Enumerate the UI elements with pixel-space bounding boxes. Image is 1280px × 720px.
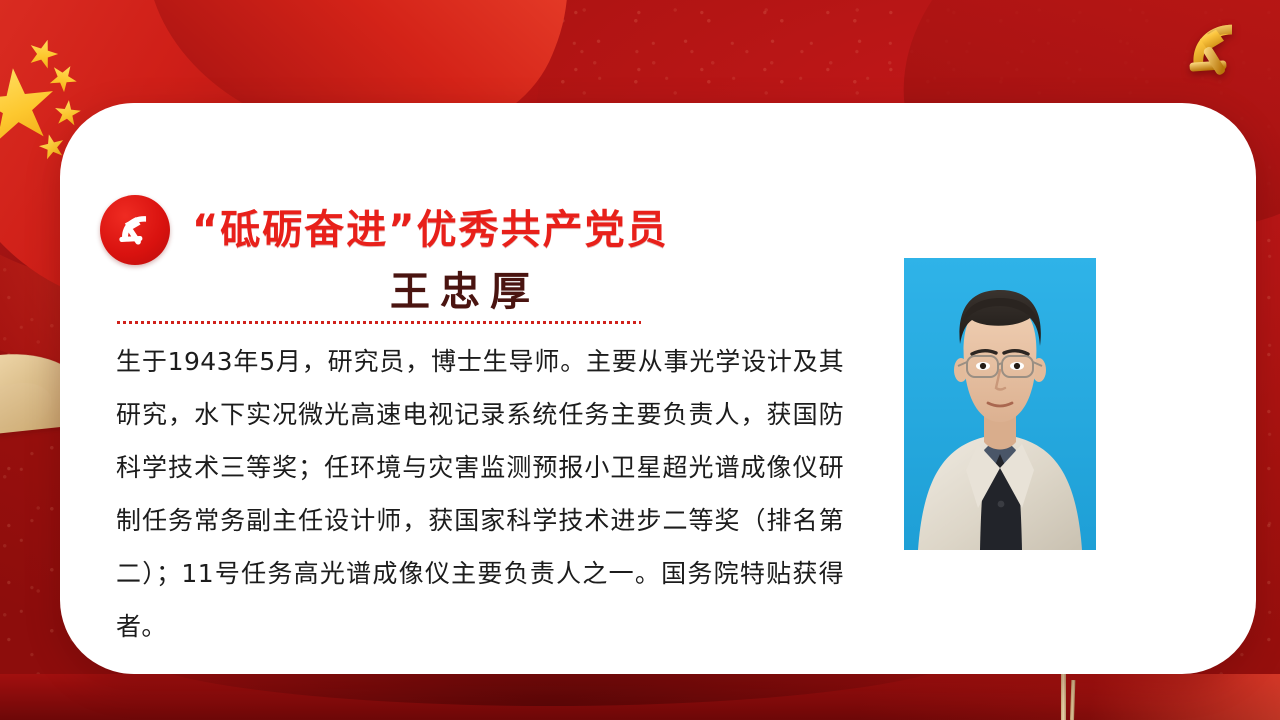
hammer-sickle-icon <box>112 207 158 253</box>
party-badge <box>100 195 170 265</box>
hammer-sickle-emblem-icon <box>1170 12 1262 92</box>
slide-root: “砥砺奋进”优秀共产党员 王忠厚 生于1943年5月，研究员，博士生导师。主要从… <box>0 0 1280 720</box>
five-pointed-star-icon <box>24 35 62 73</box>
five-pointed-star-icon <box>0 64 60 150</box>
portrait-photo <box>904 258 1096 550</box>
gold-pole-decoration <box>1061 674 1066 720</box>
content-card: “砥砺奋进”优秀共产党员 王忠厚 生于1943年5月，研究员，博士生导师。主要从… <box>60 103 1256 674</box>
biography-text: 生于1943年5月，研究员，博士生导师。主要从事光学设计及其研究，水下实况微光高… <box>116 335 844 653</box>
five-pointed-star-icon <box>53 99 83 129</box>
title-row: “砥砺奋进”优秀共产党员 <box>100 195 669 265</box>
divider-dotted <box>117 321 641 324</box>
honoree-name: 王忠厚 <box>390 259 540 317</box>
page-title: “砥砺奋进”优秀共产党员 <box>192 208 669 252</box>
